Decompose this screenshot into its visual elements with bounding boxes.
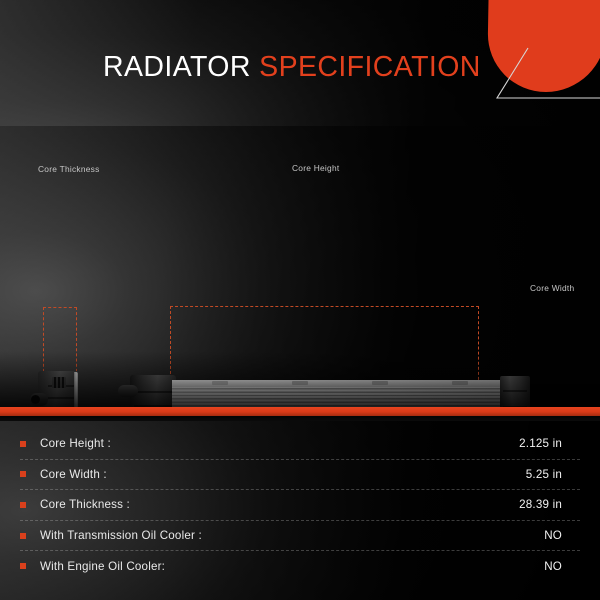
spec-value: NO — [544, 529, 580, 542]
bullet-square-icon — [20, 471, 26, 477]
bullet-square-icon — [20, 441, 26, 447]
spec-row-left: Core Width : — [20, 468, 107, 481]
header-banner: RADIATOR SPECIFICATION — [0, 0, 600, 126]
stage-floor-shadow — [0, 351, 600, 411]
core-thickness-bracket-top — [43, 307, 77, 308]
specification-table: Core Height :2.125 inCore Width :5.25 in… — [0, 421, 600, 600]
page-title-primary: RADIATOR — [103, 51, 259, 83]
spec-row-left: Core Height : — [20, 437, 111, 450]
spec-row-left: With Transmission Oil Cooler : — [20, 529, 202, 542]
spec-value: NO — [544, 560, 580, 573]
spec-row: Core Height :2.125 in — [20, 429, 580, 460]
spec-label: With Engine Oil Cooler: — [40, 560, 165, 573]
spec-row-left: Core Thickness : — [20, 498, 130, 511]
header-outline-shape — [470, 0, 600, 126]
spec-value: 5.25 in — [526, 468, 580, 481]
core-height-bracket-top — [170, 306, 479, 307]
page-title: RADIATOR SPECIFICATION — [103, 53, 481, 82]
spec-label: With Transmission Oil Cooler : — [40, 529, 202, 542]
spec-label: Core Thickness : — [40, 498, 130, 511]
red-divider-bar — [0, 407, 600, 416]
core-width-label: Core Width — [530, 283, 574, 293]
spec-row: Core Width :5.25 in — [20, 460, 580, 491]
bullet-square-icon — [20, 533, 26, 539]
spec-row: With Transmission Oil Cooler :NO — [20, 521, 580, 552]
bullet-square-icon — [20, 502, 26, 508]
core-thickness-label: Core Thickness — [38, 164, 100, 174]
specification-list: Core Height :2.125 inCore Width :5.25 in… — [0, 429, 600, 581]
spec-label: Core Width : — [40, 468, 107, 481]
spec-row-left: With Engine Oil Cooler: — [20, 560, 165, 573]
spec-row: Core Thickness :28.39 in — [20, 490, 580, 521]
page-title-accent: SPECIFICATION — [259, 51, 481, 83]
bullet-square-icon — [20, 563, 26, 569]
radiator-specification-card: RADIATOR SPECIFICATION — [0, 0, 600, 600]
spec-value: 2.125 in — [519, 437, 580, 450]
spec-value: 28.39 in — [519, 498, 580, 511]
core-height-label: Core Height — [292, 163, 339, 173]
spec-row: With Engine Oil Cooler:NO — [20, 551, 580, 581]
spec-label: Core Height : — [40, 437, 111, 450]
